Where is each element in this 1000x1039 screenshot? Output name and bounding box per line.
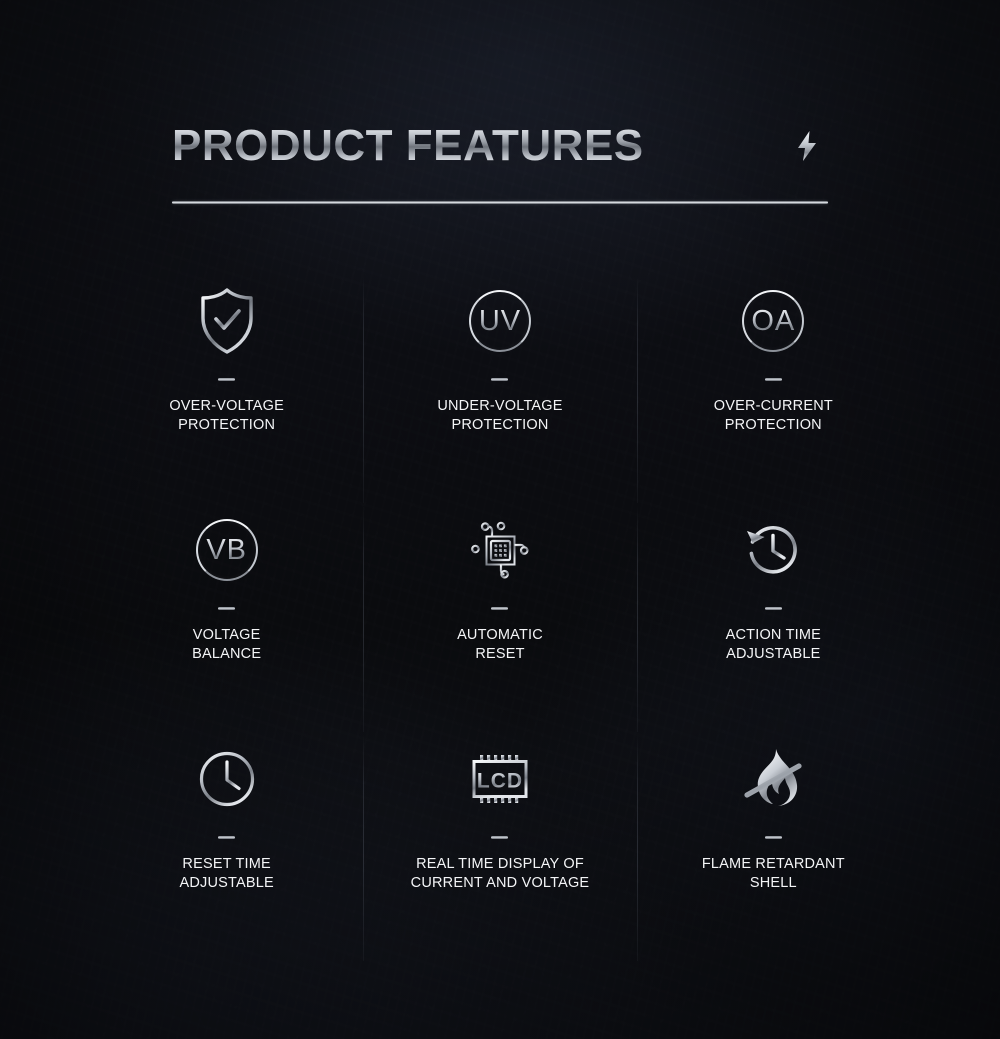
feature-item-automatic-reset: AUTOMATIC RESET: [363, 497, 636, 726]
feature-label: ACTION TIME ADJUSTABLE: [726, 626, 821, 664]
feature-item-flame-retardant: FLAME RETARDANT SHELL: [637, 726, 910, 955]
microchip-icon: [468, 509, 532, 591]
title-divider: [172, 201, 828, 204]
feature-label: REAL TIME DISPLAY OF CURRENT AND VOLTAGE: [411, 855, 590, 893]
uv-badge-icon: UV: [469, 290, 531, 352]
feature-label: OVER-CURRENT PROTECTION: [714, 397, 833, 435]
item-dash: [218, 607, 235, 610]
badge-abbr: VB: [206, 536, 247, 565]
item-dash: [765, 378, 782, 381]
item-dash: [491, 378, 508, 381]
badge-abbr: UV: [479, 307, 521, 336]
clock-rewind-icon: [743, 509, 803, 591]
feature-label: RESET TIME ADJUSTABLE: [179, 855, 273, 893]
feature-label: FLAME RETARDANT SHELL: [702, 855, 845, 893]
flame-retardant-icon: [742, 738, 804, 820]
feature-item-real-time-display: LCD REAL TIME DISPLAY OF CURRENT AND VOL…: [363, 726, 636, 955]
item-dash: [218, 836, 235, 839]
clock-icon: [198, 738, 256, 820]
feature-label: OVER-VOLTAGE PROTECTION: [169, 397, 284, 435]
lcd-display-icon: LCD: [465, 738, 535, 820]
badge-abbr: OA: [751, 307, 795, 336]
item-dash: [491, 607, 508, 610]
feature-item-reset-time: RESET TIME ADJUSTABLE: [90, 726, 363, 955]
item-dash: [765, 836, 782, 839]
item-dash: [765, 607, 782, 610]
feature-label: VOLTAGE BALANCE: [192, 626, 261, 664]
feature-item-over-current: OA OVER-CURRENT PROTECTION: [637, 268, 910, 497]
feature-item-action-time: ACTION TIME ADJUSTABLE: [637, 497, 910, 726]
page-header: PRODUCT FEATURES: [172, 116, 828, 176]
shield-check-icon: [199, 280, 255, 362]
feature-item-voltage-balance: VB VOLTAGE BALANCE: [90, 497, 363, 726]
item-dash: [491, 836, 508, 839]
feature-label: UNDER-VOLTAGE PROTECTION: [437, 397, 562, 435]
lightning-bolt-icon: [790, 126, 824, 166]
feature-item-over-voltage: OVER-VOLTAGE PROTECTION: [90, 268, 363, 497]
oa-badge-icon: OA: [742, 290, 804, 352]
features-grid: OVER-VOLTAGE PROTECTION UV UNDER-VOLTAGE…: [90, 268, 910, 955]
item-dash: [218, 378, 235, 381]
feature-label: AUTOMATIC RESET: [457, 626, 543, 664]
svg-text:LCD: LCD: [477, 770, 523, 793]
vb-badge-icon: VB: [196, 519, 258, 581]
page-title: PRODUCT FEATURES: [172, 124, 644, 168]
content-root: PRODUCT FEATURES: [0, 0, 1000, 1039]
feature-item-under-voltage: UV UNDER-VOLTAGE PROTECTION: [363, 268, 636, 497]
